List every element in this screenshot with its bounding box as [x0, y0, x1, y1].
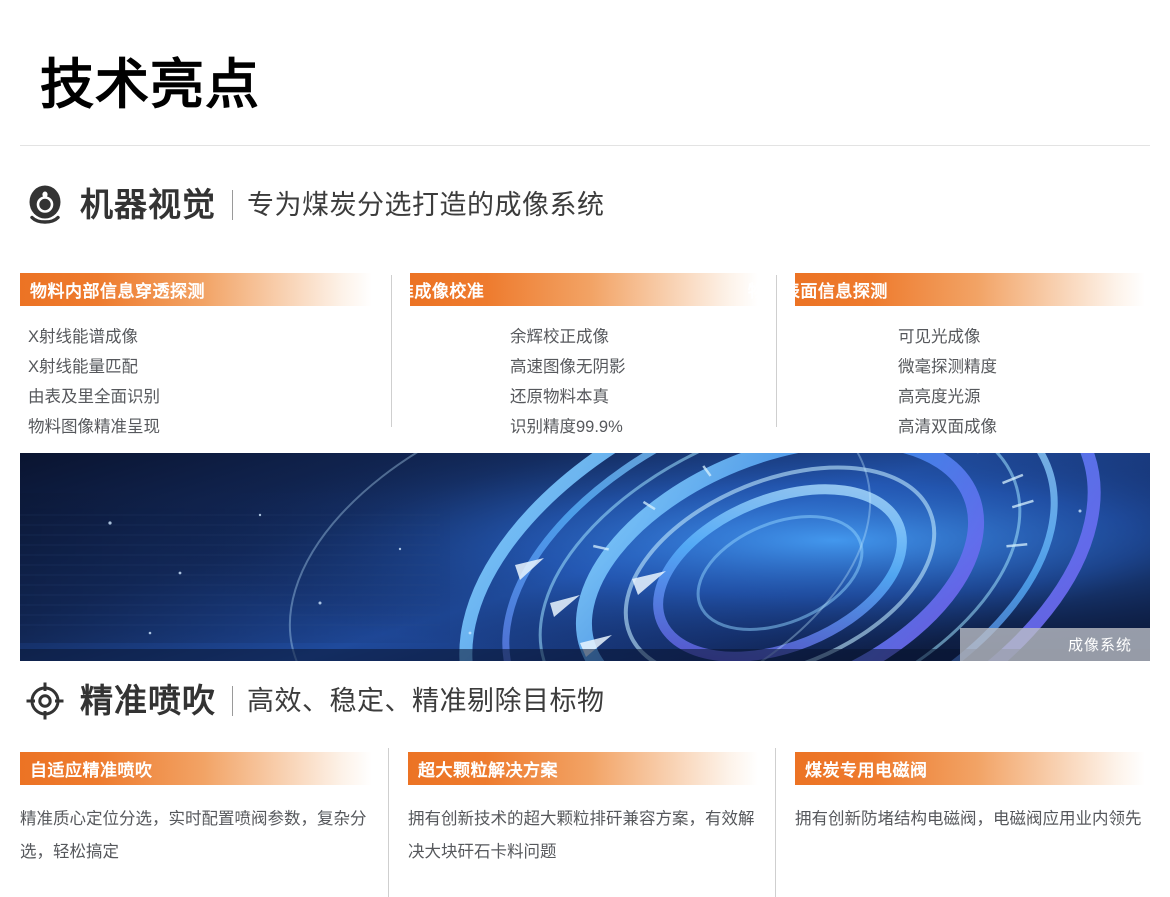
card-header-bar: 煤炭专用电磁阀	[795, 752, 1145, 785]
card-3: 煤炭专用电磁阀 拥有创新防堵结构电磁阀，电磁阀应用业内领先	[795, 752, 1145, 836]
camera-icon	[24, 184, 66, 226]
section-heading-precision-blowing: 精准喷吹 高效、稳定、精准剔除目标物	[24, 679, 605, 723]
column-header-bar-3: 物料表面信息探测	[795, 273, 1145, 306]
card-header-bar: 超大颗粒解决方案	[408, 752, 758, 785]
card-divider-2	[775, 748, 776, 897]
list-item: 由表及里全面识别	[28, 382, 160, 412]
card-divider-1	[388, 748, 389, 897]
banner-caption-label: 成像系统	[1068, 634, 1132, 655]
page-title: 技术亮点	[40, 52, 260, 118]
list-item: X射线能谱成像	[28, 322, 160, 352]
list-item: X射线能量匹配	[28, 352, 160, 382]
title-divider	[20, 145, 1150, 146]
section-subtitle: 高效、稳定、精准剔除目标物	[247, 680, 605, 722]
section-title-separator	[232, 190, 233, 220]
list-item: 高速图像无阴影	[510, 352, 626, 382]
column-header-bar-2: 精准成像校准	[410, 273, 758, 306]
column-header-label: 物料内部信息穿透探测	[30, 277, 205, 302]
column-header-label: 物料表面信息探测	[748, 277, 888, 302]
list-item: 还原物料本真	[510, 382, 626, 412]
section-heading-machine-vision: 机器视觉 专为煤炭分选打造的成像系统	[24, 183, 605, 227]
list-item: 识别精度99.9%	[510, 412, 626, 442]
section-title: 机器视觉	[80, 184, 216, 226]
column-divider-1	[391, 275, 392, 427]
column-divider-2	[776, 275, 777, 427]
card-header-bar: 自适应精准喷吹	[20, 752, 372, 785]
list-item: 可见光成像	[898, 322, 997, 352]
section-title: 精准喷吹	[80, 680, 216, 722]
column-header-label: 精准成像校准	[379, 277, 484, 302]
card-header-label: 自适应精准喷吹	[30, 756, 153, 781]
card-1: 自适应精准喷吹 精准质心定位分选，实时配置喷阀参数，复杂分选，轻松搞定	[20, 752, 372, 869]
feature-list-2: 余辉校正成像 高速图像无阴影 还原物料本真 识别精度99.9%	[510, 322, 626, 442]
card-header-label: 煤炭专用电磁阀	[805, 756, 928, 781]
banner-caption: 成像系统	[960, 628, 1150, 661]
card-body-text: 精准质心定位分选，实时配置喷阀参数，复杂分选，轻松搞定	[20, 803, 372, 869]
list-item: 高亮度光源	[898, 382, 997, 412]
card-body-text: 拥有创新技术的超大颗粒排矸兼容方案，有效解决大块矸石卡料问题	[408, 803, 758, 869]
list-item: 余辉校正成像	[510, 322, 626, 352]
list-item: 物料图像精准呈现	[28, 412, 160, 442]
imaging-system-banner: 成像系统	[20, 453, 1150, 661]
column-header-bar-1: 物料内部信息穿透探测	[20, 273, 372, 306]
section-subtitle: 专为煤炭分选打造的成像系统	[247, 184, 605, 226]
list-item: 微毫探测精度	[898, 352, 997, 382]
section-title-separator	[232, 686, 233, 716]
card-header-label: 超大颗粒解决方案	[418, 756, 558, 781]
list-item: 高清双面成像	[898, 412, 997, 442]
feature-list-1: X射线能谱成像 X射线能量匹配 由表及里全面识别 物料图像精准呈现	[28, 322, 160, 442]
target-icon	[24, 680, 66, 722]
card-2: 超大颗粒解决方案 拥有创新技术的超大颗粒排矸兼容方案，有效解决大块矸石卡料问题	[408, 752, 758, 869]
feature-list-3: 可见光成像 微毫探测精度 高亮度光源 高清双面成像	[898, 322, 997, 442]
card-body-text: 拥有创新防堵结构电磁阀，电磁阀应用业内领先	[795, 803, 1145, 836]
technical-highlights-page: 技术亮点 机器视觉 专为煤炭分选打造的成像系统 物料内部信息穿透探测 精准成像校…	[0, 0, 1170, 897]
